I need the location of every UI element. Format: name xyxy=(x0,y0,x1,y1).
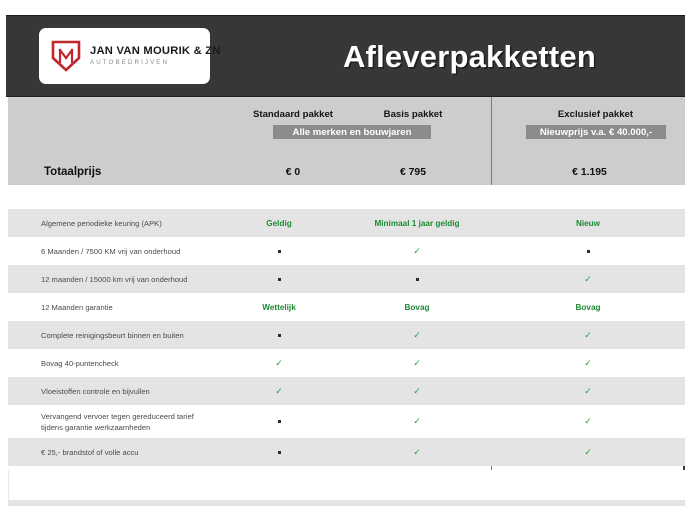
package-header-band: Standaard pakket Basis pakket Exclusief … xyxy=(8,97,685,185)
check-icon: ✓ xyxy=(413,447,421,458)
check-icon: ✓ xyxy=(584,330,592,341)
not-included-icon xyxy=(278,250,281,253)
shield-m-logo-icon xyxy=(51,40,81,72)
feature-label: Complete reinigingsbeurt binnen en buite… xyxy=(8,330,215,341)
table-row: 12 Maanden garantieWettelijkBovagBovag xyxy=(8,293,685,321)
feature-value-standaard xyxy=(215,451,343,454)
feature-value-exclusief: Nieuw xyxy=(491,219,685,228)
column-header-standaard: Standaard pakket xyxy=(223,109,363,120)
feature-value-exclusief: ✓ xyxy=(491,274,685,285)
feature-value-exclusief: ✓ xyxy=(491,330,685,341)
feature-comparison-table: Algemene periodieke keuring (APK)GeldigM… xyxy=(8,185,685,466)
logo-company-subtitle: AUTOBEDRIJVEN xyxy=(90,60,221,66)
feature-value-basis xyxy=(343,278,491,281)
feature-value-basis: ✓ xyxy=(343,330,491,341)
feature-value-basis: ✓ xyxy=(343,386,491,397)
not-included-icon xyxy=(278,420,281,423)
check-icon: ✓ xyxy=(275,386,283,397)
feature-value-exclusief: ✓ xyxy=(491,386,685,397)
afleverpakketten-page: JAN VAN MOURIK & ZN AUTOBEDRIJVEN Afleve… xyxy=(0,0,685,514)
feature-label: Bovag 40-puntencheck xyxy=(8,358,215,369)
table-row: 6 Maanden / 7500 KM vrij van onderhoud✓ xyxy=(8,237,685,265)
table-top-spacer xyxy=(8,185,685,209)
feature-value-exclusief: ✓ xyxy=(491,358,685,369)
column-header-exclusief: Exclusief pakket xyxy=(498,109,685,120)
feature-label: 12 maanden / 15000 km vrij van onderhoud xyxy=(8,274,215,285)
feature-label: Vloeistoffen controle en bijvullen xyxy=(8,386,215,397)
check-icon: ✓ xyxy=(413,358,421,369)
check-icon: ✓ xyxy=(584,274,592,285)
feature-label: Algemene periodieke keuring (APK) xyxy=(8,218,215,229)
not-included-icon xyxy=(278,451,281,454)
feature-value-exclusief: ✓ xyxy=(491,447,685,458)
logo-text-block: JAN VAN MOURIK & ZN AUTOBEDRIJVEN xyxy=(90,46,221,66)
table-row: Bovag 40-puntencheck✓✓✓ xyxy=(8,349,685,377)
not-included-icon xyxy=(416,278,419,281)
check-icon: ✓ xyxy=(584,386,592,397)
feature-value-exclusief xyxy=(491,250,685,253)
check-icon: ✓ xyxy=(413,246,421,257)
check-icon: ✓ xyxy=(413,416,421,427)
table-row: Vloeistoffen controle en bijvullen✓✓✓ xyxy=(8,377,685,405)
page-title: Afleverpakketten xyxy=(254,16,685,98)
total-price-row: Totaalprijs € 0 € 795 € 1.195 xyxy=(8,159,685,185)
check-icon: ✓ xyxy=(584,358,592,369)
not-included-icon xyxy=(278,334,281,337)
feature-value-standaard: ✓ xyxy=(215,358,343,369)
total-price-label: Totaalprijs xyxy=(44,159,101,185)
feature-value-exclusief: Bovag xyxy=(491,303,685,312)
check-icon: ✓ xyxy=(275,358,283,369)
feature-value-exclusief: ✓ xyxy=(491,416,685,427)
not-included-icon xyxy=(278,278,281,281)
feature-value-basis: ✓ xyxy=(343,447,491,458)
feature-value-basis: Minimaal 1 jaar geldig xyxy=(343,219,491,228)
check-icon: ✓ xyxy=(413,330,421,341)
table-row: Complete reinigingsbeurt binnen en buite… xyxy=(8,321,685,349)
check-icon: ✓ xyxy=(584,416,592,427)
feature-label: 12 Maanden garantie xyxy=(8,302,215,313)
not-included-icon xyxy=(587,250,590,253)
feature-value-standaard: Wettelijk xyxy=(215,303,343,312)
badge-nieuwprijs: Nieuwprijs v.a. € 40.000,- xyxy=(526,125,666,139)
feature-value-basis: Bovag xyxy=(343,303,491,312)
feature-value-standaard: Geldig xyxy=(215,219,343,228)
company-logo: JAN VAN MOURIK & ZN AUTOBEDRIJVEN xyxy=(39,28,210,84)
check-icon: ✓ xyxy=(584,447,592,458)
total-price-exclusief: € 1.195 xyxy=(492,159,685,185)
page-header: JAN VAN MOURIK & ZN AUTOBEDRIJVEN Afleve… xyxy=(6,15,685,97)
total-price-basis: € 795 xyxy=(343,159,483,185)
feature-label: Vervangend vervoer tegen gereduceerd tar… xyxy=(8,411,215,433)
table-row: Vervangend vervoer tegen gereduceerd tar… xyxy=(8,405,685,438)
feature-value-basis: ✓ xyxy=(343,358,491,369)
table-row: 12 maanden / 15000 km vrij van onderhoud… xyxy=(8,265,685,293)
table-bottom-white-strip xyxy=(8,470,685,500)
total-price-standaard: € 0 xyxy=(223,159,363,185)
table-row: Algemene periodieke keuring (APK)GeldigM… xyxy=(8,209,685,237)
column-header-basis: Basis pakket xyxy=(343,109,483,120)
check-icon: ✓ xyxy=(413,386,421,397)
logo-company-name: JAN VAN MOURIK & ZN xyxy=(90,46,221,57)
feature-label: € 25,- brandstof of volle accu xyxy=(8,447,215,458)
table-row: € 25,- brandstof of volle accu✓✓ xyxy=(8,438,685,466)
badge-alle-merken-en-bouwjaren: Alle merken en bouwjaren xyxy=(273,125,431,139)
page-bottom-strip xyxy=(8,500,685,506)
feature-value-basis: ✓ xyxy=(343,416,491,427)
feature-value-standaard xyxy=(215,278,343,281)
feature-value-standaard xyxy=(215,250,343,253)
feature-value-standaard: ✓ xyxy=(215,386,343,397)
feature-value-basis: ✓ xyxy=(343,246,491,257)
feature-label: 6 Maanden / 7500 KM vrij van onderhoud xyxy=(8,246,215,257)
feature-value-standaard xyxy=(215,334,343,337)
feature-value-standaard xyxy=(215,420,343,423)
